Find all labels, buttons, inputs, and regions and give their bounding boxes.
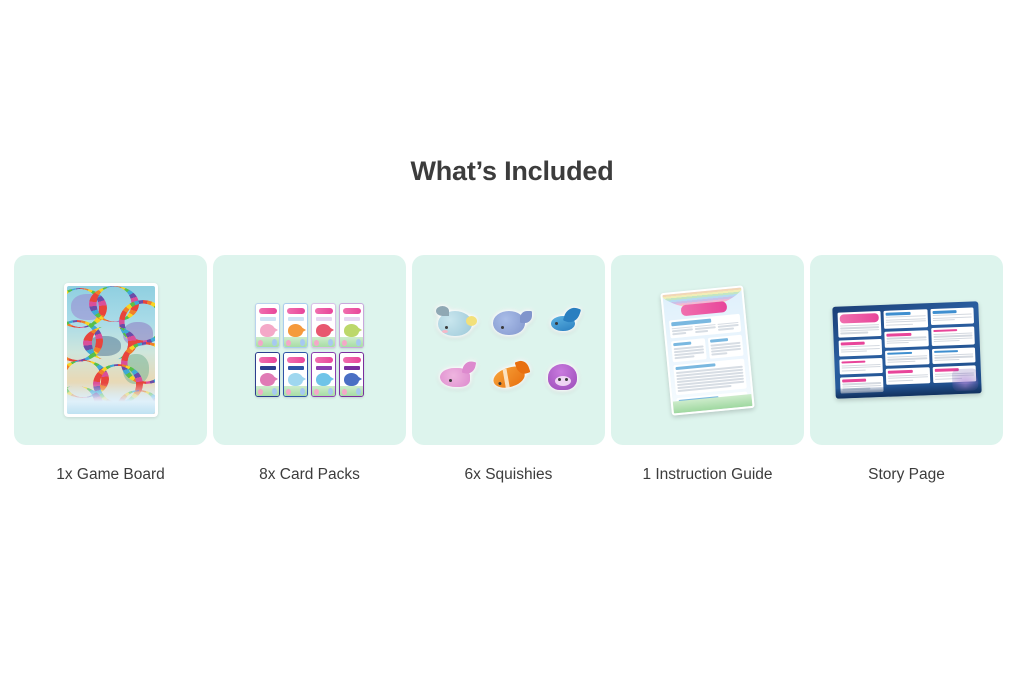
included-item-squishies[interactable]: 6x Squishies [412, 255, 605, 484]
card-pack [283, 303, 308, 348]
included-item-story-page[interactable]: Story Page [810, 255, 1003, 484]
included-items-grid: 1x Game Board [14, 255, 1010, 484]
clownfish-squishy [493, 368, 525, 387]
included-item-game-board[interactable]: 1x Game Board [14, 255, 207, 484]
squishies-image [429, 298, 589, 402]
card-packs-image [255, 303, 364, 397]
clam-squishy [548, 364, 577, 390]
card-pack [255, 303, 280, 348]
included-item-caption: Story Page [868, 466, 945, 484]
story-page-panel[interactable] [810, 255, 1003, 445]
card-pack [339, 303, 364, 348]
card-pack [339, 352, 364, 397]
game-board-image [64, 283, 158, 417]
included-item-caption: 1 Instruction Guide [642, 466, 772, 484]
instruction-guide-image [660, 285, 754, 415]
squishies-panel[interactable] [412, 255, 605, 445]
story-page-image [832, 301, 981, 399]
game-board-panel[interactable] [14, 255, 207, 445]
included-item-caption: 1x Game Board [56, 466, 165, 484]
page-title: What’s Included [0, 156, 1024, 187]
whale-squishy [493, 311, 525, 335]
included-item-caption: 6x Squishies [465, 466, 553, 484]
included-item-card-packs[interactable]: 8x Card Packs [213, 255, 406, 484]
pufferfish-squishy [438, 311, 472, 336]
blue-fish-squishy [551, 316, 575, 331]
included-item-instruction-guide[interactable]: 1 Instruction Guide [611, 255, 804, 484]
card-pack [255, 352, 280, 397]
card-packs-panel[interactable] [213, 255, 406, 445]
card-pack [311, 352, 336, 397]
included-item-caption: 8x Card Packs [259, 466, 360, 484]
whats-included-section: What’s Included [0, 0, 1024, 683]
card-pack [311, 303, 336, 348]
card-pack [283, 352, 308, 397]
stingray-squishy [440, 368, 470, 387]
instruction-guide-panel[interactable] [611, 255, 804, 445]
